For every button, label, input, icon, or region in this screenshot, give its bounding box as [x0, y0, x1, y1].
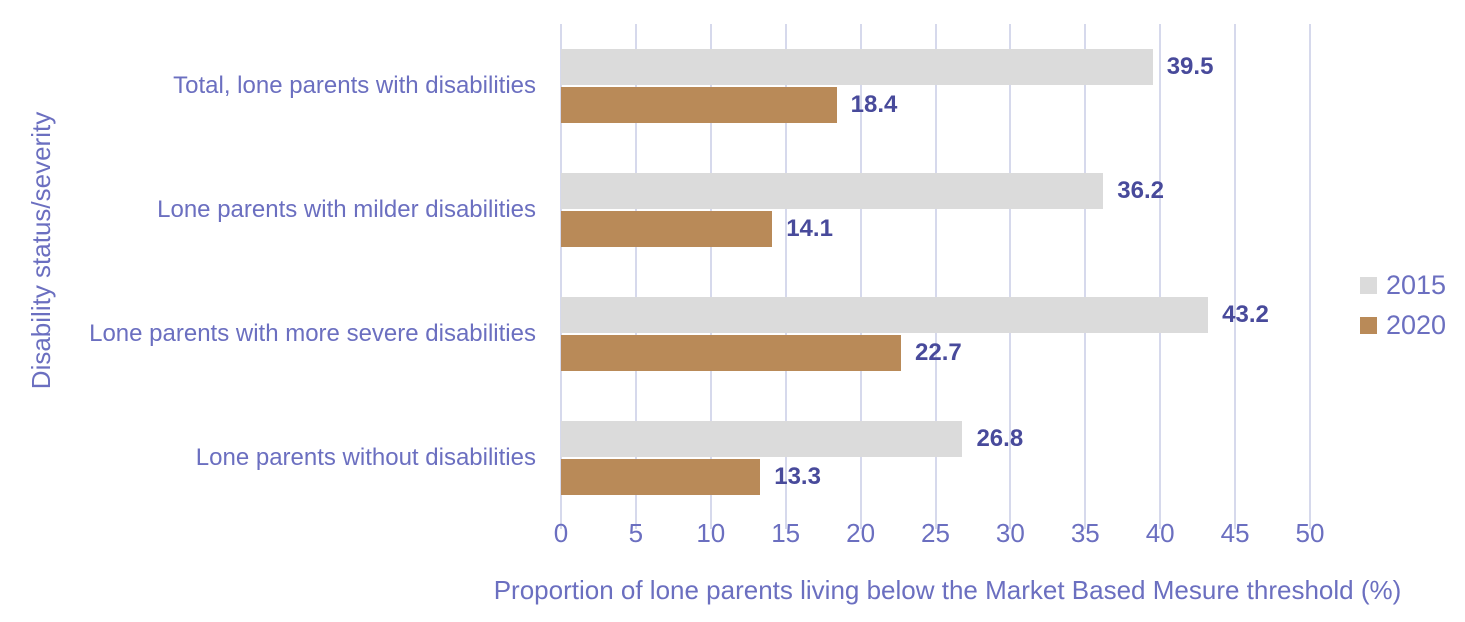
- legend-label: 2020: [1386, 312, 1446, 339]
- x-axis-tick-label: 20: [846, 518, 875, 549]
- gridline: [1234, 24, 1236, 520]
- bar-value-label: 18.4: [851, 91, 898, 119]
- category-axis-labels: Total, lone parents with disabilitiesLon…: [60, 24, 548, 520]
- x-axis-tick-label: 50: [1296, 518, 1325, 549]
- bar-value-label: 43.2: [1222, 301, 1269, 329]
- bar-2015-1: [561, 49, 1153, 85]
- bar-2015-4: [561, 421, 962, 457]
- legend-item-2020[interactable]: 2020: [1360, 305, 1465, 345]
- x-axis-tick-label: 45: [1221, 518, 1250, 549]
- x-axis-tick-label: 10: [696, 518, 725, 549]
- legend-swatch-icon: [1360, 277, 1377, 294]
- x-axis-tick-label: 35: [1071, 518, 1100, 549]
- bar-value-label: 22.7: [915, 339, 962, 367]
- category-axis-label: Lone parents without disabilities: [196, 444, 536, 472]
- bar-2020-2: [561, 211, 772, 247]
- plot-area: 39.518.436.214.143.222.726.813.3: [561, 24, 1310, 520]
- category-axis-label: Total, lone parents with disabilities: [173, 72, 536, 100]
- bar-value-label: 13.3: [774, 463, 821, 491]
- x-axis-tick-label: 30: [996, 518, 1025, 549]
- gridline: [1084, 24, 1086, 520]
- bar-2015-2: [561, 173, 1103, 209]
- gridline: [1159, 24, 1161, 520]
- x-axis-tick-label: 15: [771, 518, 800, 549]
- x-axis-tick-label: 5: [629, 518, 643, 549]
- category-axis-label: Lone parents with milder disabilities: [157, 196, 536, 224]
- legend-swatch-icon: [1360, 317, 1377, 334]
- bar-2020-4: [561, 459, 760, 495]
- bar-2020-3: [561, 335, 901, 371]
- bar-value-label: 39.5: [1167, 53, 1214, 81]
- x-axis-tick-labels: 05101520253035404550: [561, 518, 1310, 558]
- x-axis-title: Proportion of lone parents living below …: [430, 575, 1465, 606]
- x-axis-tick-label: 25: [921, 518, 950, 549]
- bar-2015-3: [561, 297, 1208, 333]
- x-axis-tick-label: 40: [1146, 518, 1175, 549]
- category-axis-label: Lone parents with more severe disabiliti…: [89, 320, 536, 348]
- gridline: [1309, 24, 1311, 520]
- x-axis-tick-label: 0: [554, 518, 568, 549]
- bar-value-label: 26.8: [976, 425, 1023, 453]
- legend-item-2015[interactable]: 2015: [1360, 265, 1465, 305]
- legend-label: 2015: [1386, 272, 1446, 299]
- bar-2020-1: [561, 87, 837, 123]
- y-axis-title-text: Disability status/severity: [27, 111, 58, 388]
- bar-value-label: 36.2: [1117, 177, 1164, 205]
- bar-value-label: 14.1: [786, 215, 833, 243]
- bar-chart: Disability status/severity Total, lone p…: [0, 0, 1465, 622]
- chart-legend: 20152020: [1360, 265, 1465, 345]
